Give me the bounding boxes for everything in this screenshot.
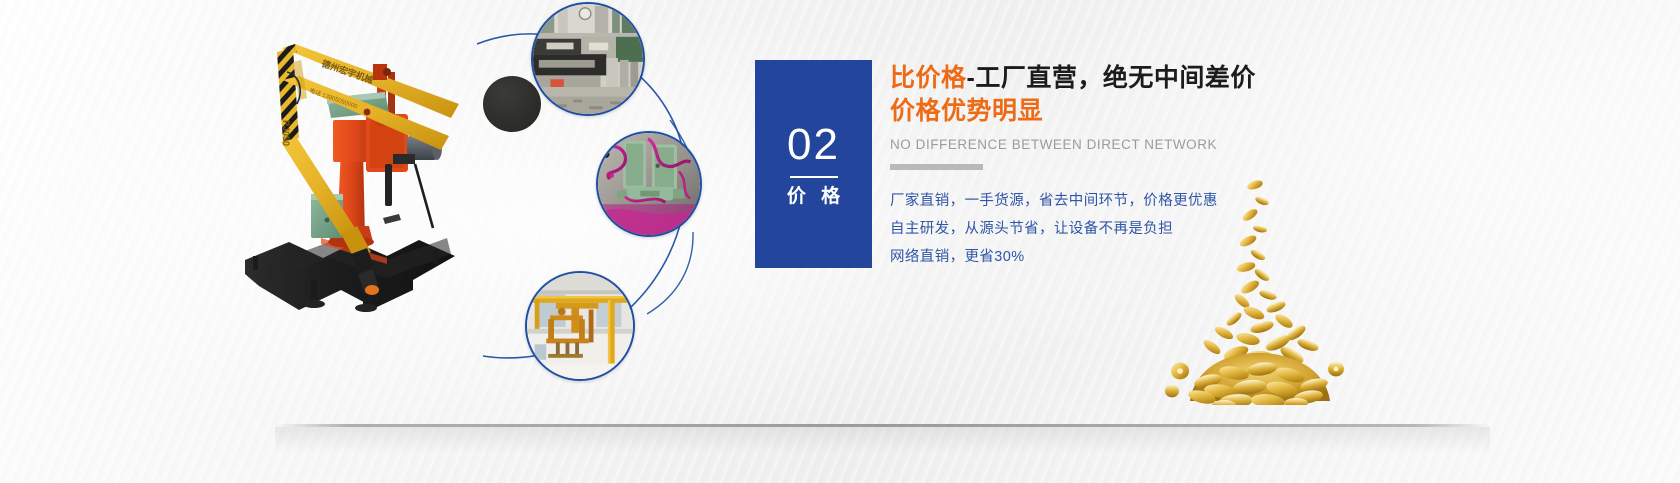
headline-line-2: 价格优势明显 (890, 95, 1410, 128)
headline-highlight: 比价格 (890, 64, 967, 92)
product-illustration-group: 德州宏宇机械 电话 13805050000 PJ050 (215, 0, 760, 420)
headline-line-1: 比价格-工厂直营，绝无中间差价 (890, 62, 1410, 95)
step-number-label: 价 格 (782, 187, 845, 206)
badge-divider (790, 176, 838, 178)
step-number: 02 (787, 123, 840, 167)
price-advantage-banner: 德州宏宇机械 电话 13805050000 PJ050 (0, 0, 1680, 483)
copy-divider (890, 164, 983, 170)
factory-installed-manipulator-photo (527, 273, 633, 379)
headline-rest: -工厂直营，绝无中间差价 (967, 64, 1256, 92)
jib-crane-manipulator-image: 德州宏宇机械 电话 13805050000 PJ050 (237, 28, 537, 338)
falling-gold-coins-graphic (1150, 175, 1350, 405)
english-subtitle: NO DIFFERENCE BETWEEN DIRECT NETWORK (890, 137, 1410, 152)
machine-model-decal: PJ050 (281, 120, 291, 146)
workshop-machinery-photo-bubble[interactable] (531, 2, 645, 116)
step-number-badge: 02 价 格 (755, 60, 872, 268)
pneumatic-valve-closeup-photo (598, 133, 700, 235)
workshop-machinery-photo (533, 4, 643, 114)
installed-manipulator-photo-bubble[interactable] (525, 271, 635, 381)
pneumatic-valve-photo-bubble[interactable] (596, 131, 702, 237)
bottom-divider-glow (275, 427, 1490, 453)
dark-lens-blob (483, 76, 541, 132)
